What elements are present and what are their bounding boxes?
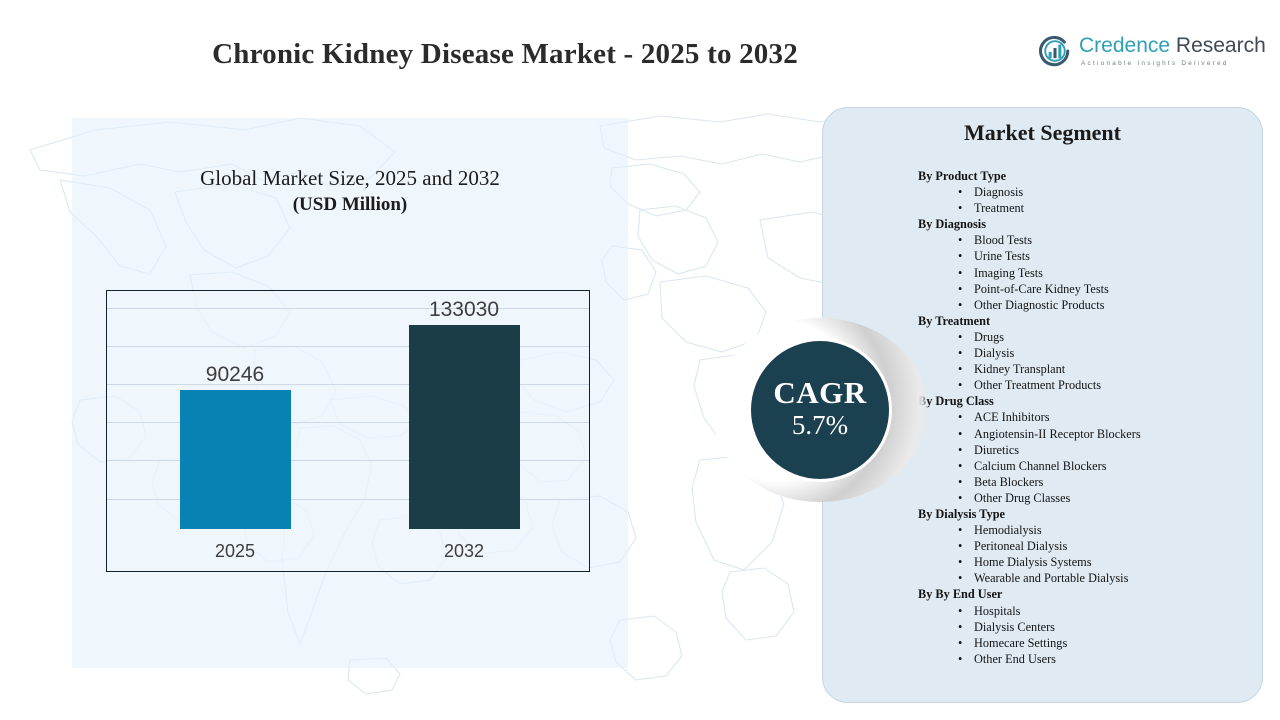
segment-item-label: Kidney Transplant — [974, 362, 1065, 376]
segment-item-label: Home Dialysis Systems — [974, 555, 1092, 569]
segment-item-label: Imaging Tests — [974, 266, 1043, 280]
cagr-circle: CAGR 5.7% — [748, 338, 892, 482]
bullet-icon: • — [958, 603, 962, 619]
segment-item-label: Dialysis Centers — [974, 620, 1055, 634]
credence-logo-icon — [1038, 34, 1072, 68]
infographic-canvas: Chronic Kidney Disease Market - 2025 to … — [0, 0, 1280, 720]
segment-item-label: Wearable and Portable Dialysis — [974, 571, 1128, 585]
bullet-icon: • — [958, 442, 962, 458]
segment-item: •Diuretics — [918, 442, 1258, 458]
bullet-icon: • — [958, 184, 962, 200]
segment-item: •Blood Tests — [918, 232, 1258, 248]
bullet-icon: • — [958, 554, 962, 570]
segment-item: •Homecare Settings — [918, 635, 1258, 651]
bullet-icon: • — [958, 297, 962, 313]
segment-group-label: By Product Type — [918, 168, 1258, 184]
bullet-icon: • — [958, 635, 962, 651]
segment-item-label: Homecare Settings — [974, 636, 1067, 650]
bullet-icon: • — [958, 490, 962, 506]
bullet-icon: • — [958, 265, 962, 281]
page-title: Chronic Kidney Disease Market - 2025 to … — [0, 38, 1010, 71]
segment-item-label: Diuretics — [974, 443, 1019, 457]
bullet-icon: • — [958, 232, 962, 248]
bullet-icon: • — [958, 619, 962, 635]
segment-item: •Hospitals — [918, 603, 1258, 619]
segment-item: •Home Dialysis Systems — [918, 554, 1258, 570]
cagr-label: CAGR — [773, 377, 866, 410]
segment-item-label: Other Diagnostic Products — [974, 298, 1104, 312]
segment-item: •Dialysis Centers — [918, 619, 1258, 635]
segment-item: •Angiotensin-II Receptor Blockers — [918, 426, 1258, 442]
segment-item: •Beta Blockers — [918, 474, 1258, 490]
bullet-icon: • — [958, 522, 962, 538]
segment-item-label: ACE Inhibitors — [974, 410, 1050, 424]
segment-item-label: Urine Tests — [974, 249, 1030, 263]
segment-item: •Treatment — [918, 200, 1258, 216]
segment-item-label: Other Drug Classes — [974, 491, 1070, 505]
segment-item: •Wearable and Portable Dialysis — [918, 570, 1258, 586]
brand-name-primary: Credence — [1079, 34, 1170, 57]
segment-group-label: By Drug Class — [918, 393, 1258, 409]
bullet-icon: • — [958, 248, 962, 264]
chart-category-label: 2025 — [140, 541, 331, 562]
bullet-icon: • — [958, 409, 962, 425]
chart-heading-unit: (USD Million) — [72, 192, 628, 218]
segment-item: •Other Treatment Products — [918, 377, 1258, 393]
brand-logo: Credence Research Actionable Insights De… — [1038, 28, 1258, 74]
bullet-icon: • — [958, 345, 962, 361]
segment-item-label: Beta Blockers — [974, 475, 1043, 489]
segment-group-label: By Diagnosis — [918, 216, 1258, 232]
chart-heading: Global Market Size, 2025 and 2032 (USD M… — [72, 164, 628, 218]
segment-item-label: Drugs — [974, 330, 1004, 344]
bullet-icon: • — [958, 377, 962, 393]
segment-item: •Kidney Transplant — [918, 361, 1258, 377]
segment-item: •Other Diagnostic Products — [918, 297, 1258, 313]
segment-item: •Peritoneal Dialysis — [918, 538, 1258, 554]
segment-item: •Dialysis — [918, 345, 1258, 361]
bullet-icon: • — [958, 426, 962, 442]
bullet-icon: • — [958, 281, 962, 297]
segment-item: •Drugs — [918, 329, 1258, 345]
segment-item: •Point-of-Care Kidney Tests — [918, 281, 1258, 297]
segment-item: •ACE Inhibitors — [918, 409, 1258, 425]
segment-item: •Diagnosis — [918, 184, 1258, 200]
segment-item-label: Calcium Channel Blockers — [974, 459, 1107, 473]
segment-item: •Calcium Channel Blockers — [918, 458, 1258, 474]
segment-item-label: Treatment — [974, 201, 1024, 215]
segment-group-label: By Treatment — [918, 313, 1258, 329]
bullet-icon: • — [958, 570, 962, 586]
segment-item-label: Hospitals — [974, 604, 1020, 618]
segment-item-label: Angiotensin-II Receptor Blockers — [974, 427, 1141, 441]
segment-item-label: Blood Tests — [974, 233, 1032, 247]
segment-item: •Imaging Tests — [918, 265, 1258, 281]
brand-name: Credence Research — [1079, 35, 1266, 57]
chart-bar — [409, 325, 520, 529]
bullet-icon: • — [958, 329, 962, 345]
chart-bar — [180, 390, 291, 529]
cagr-badge: CAGR 5.7% — [712, 318, 928, 502]
bullet-icon: • — [958, 538, 962, 554]
chart-heading-main: Global Market Size, 2025 and 2032 — [200, 166, 500, 190]
segment-item-label: Point-of-Care Kidney Tests — [974, 282, 1109, 296]
segment-item-label: Other Treatment Products — [974, 378, 1101, 392]
market-segment-list: By Product Type•Diagnosis•TreatmentBy Di… — [918, 168, 1258, 667]
segment-item: •Urine Tests — [918, 248, 1258, 264]
segment-group-label: By By End User — [918, 586, 1258, 602]
bullet-icon: • — [958, 651, 962, 667]
bullet-icon: • — [958, 474, 962, 490]
cagr-value: 5.7% — [792, 409, 848, 443]
brand-tagline: Actionable Insights Delivered — [1081, 60, 1266, 67]
bullet-icon: • — [958, 458, 962, 474]
segment-item: •Other Drug Classes — [918, 490, 1258, 506]
brand-name-secondary: Research — [1176, 34, 1266, 57]
chart-value-label: 133030 — [369, 298, 560, 322]
market-segment-title: Market Segment — [822, 120, 1263, 146]
segment-item-label: Diagnosis — [974, 185, 1023, 199]
segment-item: •Other End Users — [918, 651, 1258, 667]
segment-item-label: Peritoneal Dialysis — [974, 539, 1067, 553]
segment-item-label: Dialysis — [974, 346, 1014, 360]
bar-chart: 9024620251330302032 — [106, 290, 590, 572]
segment-item-label: Other End Users — [974, 652, 1056, 666]
segment-item: •Hemodialysis — [918, 522, 1258, 538]
bullet-icon: • — [958, 200, 962, 216]
bullet-icon: • — [958, 361, 962, 377]
chart-value-label: 90246 — [140, 363, 331, 387]
segment-item-label: Hemodialysis — [974, 523, 1042, 537]
segment-group-label: By Dialysis Type — [918, 506, 1258, 522]
chart-category-label: 2032 — [369, 541, 560, 562]
